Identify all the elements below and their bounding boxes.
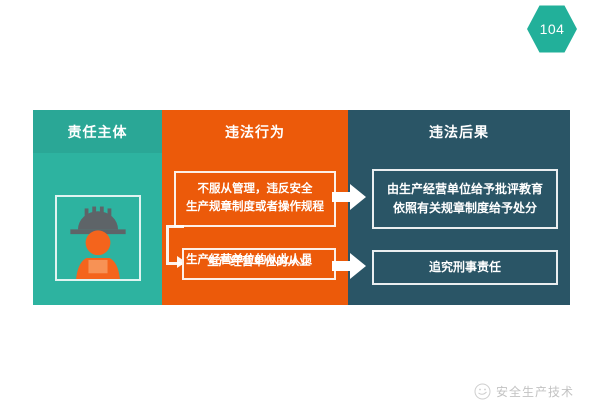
consequence-box-2: 追究刑事责任 <box>372 250 558 285</box>
consequence-box-2-line-1: 追究刑事责任 <box>429 258 501 277</box>
behavior-box-1-line-1: 不服从管理，违反安全 <box>198 181 313 199</box>
circular-logo-icon <box>474 383 491 400</box>
right-arrow-2-icon <box>332 253 366 279</box>
behavior-box-2: 生产经营单位的从业人员 生产经营单位的从业 <box>182 248 336 280</box>
column-body-responsible-subject <box>33 153 162 305</box>
behavior-box-1: 不服从管理，违反安全 生产规章制度或者操作规程 <box>174 171 336 227</box>
behavior-box-1-line-2: 生产规章制度或者操作规程 <box>186 199 324 217</box>
column-header-responsible-subject: 责任主体 <box>33 110 162 153</box>
column-responsible-subject: 责任主体 <box>33 110 162 305</box>
consequence-box-1-line-2: 依照有关规章制度给予处分 <box>393 199 537 218</box>
right-arrow-1-icon <box>332 184 366 210</box>
column-header-illegal-behavior: 违法行为 <box>162 110 348 153</box>
consequence-box-1: 由生产经营单位给予批评教育 依照有关规章制度给予处分 <box>372 169 558 229</box>
column-body-violation-consequence: 由生产经营单位给予批评教育 依照有关规章制度给予处分 追究刑事责任 <box>348 153 570 305</box>
column-body-illegal-behavior: 不服从管理，违反安全 生产规章制度或者操作规程 生产经营单位的从业人员 生产经营… <box>162 153 348 305</box>
violation-flow-diagram: 责任主体 <box>33 110 570 305</box>
column-violation-consequence: 违法后果 由生产经营单位给予批评教育 依照有关规章制度给予处分 追究刑事责任 <box>348 110 570 305</box>
footer-watermark-text: 安全生产技术 <box>496 383 574 400</box>
consequence-box-1-line-1: 由生产经营单位给予批评教育 <box>387 180 543 199</box>
footer-watermark: 安全生产技术 <box>474 383 574 400</box>
column-header-violation-consequence: 违法后果 <box>348 110 570 153</box>
construction-worker-icon <box>55 195 141 281</box>
behavior-box-2-overlay-text: 生产经营单位的从业 <box>184 254 334 271</box>
page-number-badge: 104 <box>527 4 577 54</box>
column-illegal-behavior: 违法行为 不服从管理，违反安全 生产规章制度或者操作规程 生产经营单位的从业人员… <box>162 110 348 305</box>
behavior-box-2-overlap: 生产经营单位的从业人员 生产经营单位的从业 <box>184 250 334 278</box>
page-number-label: 104 <box>540 21 565 37</box>
